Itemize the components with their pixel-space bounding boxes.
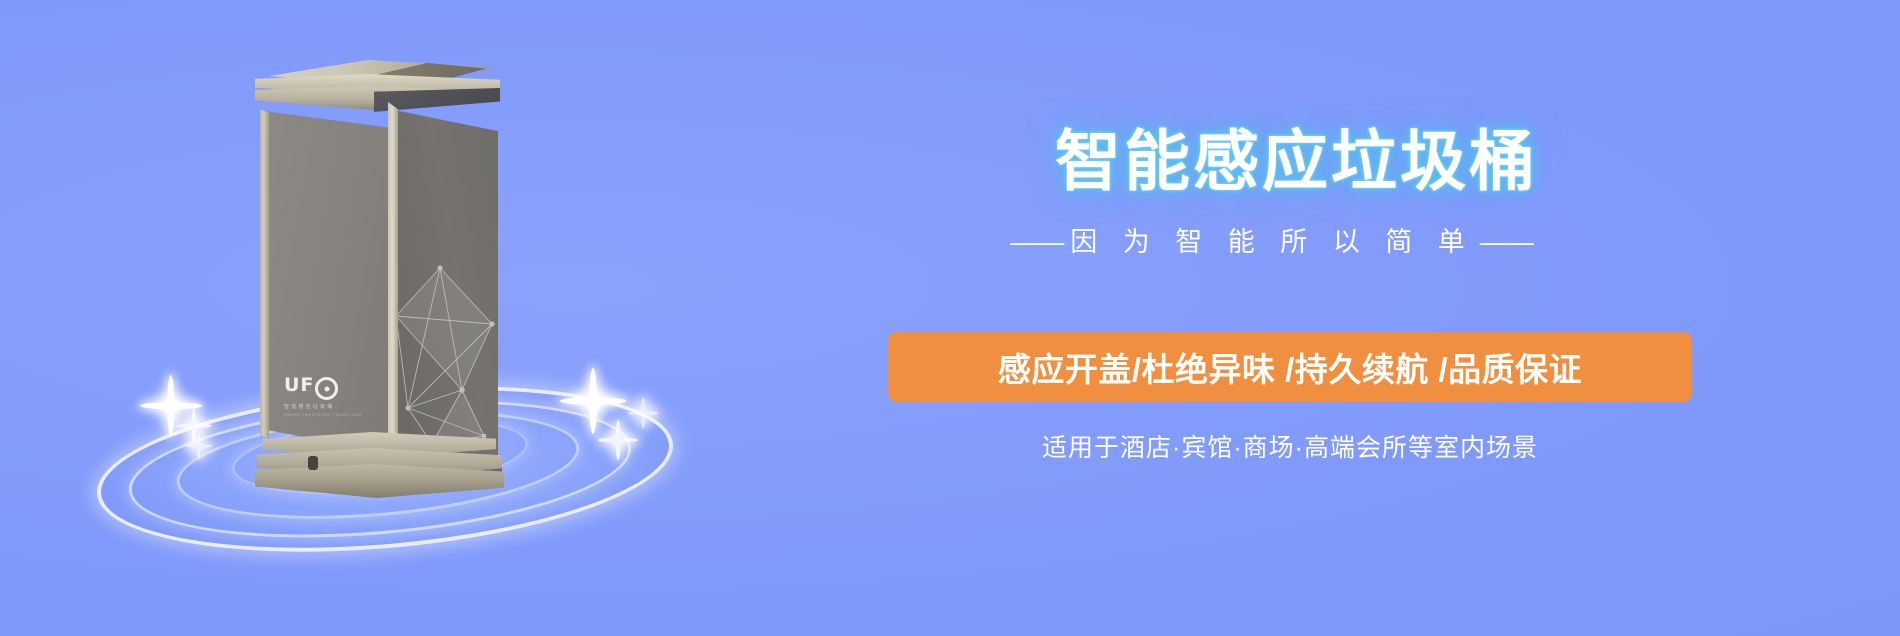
- logo-subtext-cn: 智能感应垃圾桶: [284, 403, 358, 410]
- headline: 智能感应垃圾桶: [1055, 128, 1538, 194]
- bin-lid: [246, 58, 504, 114]
- feature-badge-text: 感应开盖/杜绝异味 /持久续航 /品质保证: [998, 343, 1582, 391]
- bin-corner-trim-left: [260, 102, 269, 460]
- sensor-port-icon: [308, 456, 318, 470]
- bin-corner-trim-center: [388, 102, 398, 460]
- usage-scenario-line: 适用于酒店·宾馆·商场·高端会所等室内场景: [890, 428, 1690, 464]
- polygon-network-graphic: [394, 258, 498, 448]
- subheadline-dash-left: ——: [1004, 227, 1070, 257]
- logo-subtext-en: SMART INDUCTION TRASH CAN: [284, 413, 358, 417]
- logo-circle-icon: [315, 377, 338, 400]
- logo-wordmark: UF: [284, 376, 314, 395]
- ufo-brand-logo: UF 智能感应垃圾桶 SMART INDUCTION TRASH CAN: [284, 376, 358, 422]
- bin-side-panel: [394, 110, 498, 462]
- product-banner: UF 智能感应垃圾桶 SMART INDUCTION TRASH CAN 智能感…: [0, 0, 1900, 636]
- trash-bin-product-image: UF 智能感应垃圾桶 SMART INDUCTION TRASH CAN: [246, 58, 504, 458]
- marketing-copy-block: 智能感应垃圾桶 ——因 为 智 能 所 以 简 单—— 感应开盖/杜绝异味 /持…: [880, 0, 1900, 636]
- feature-badge: 感应开盖/杜绝异味 /持久续航 /品质保证: [888, 332, 1692, 402]
- subheadline: ——因 为 智 能 所 以 简 单——: [902, 220, 1642, 259]
- subheadline-text: 因 为 智 能 所 以 简 单: [1070, 227, 1474, 257]
- product-scene: UF 智能感应垃圾桶 SMART INDUCTION TRASH CAN: [0, 0, 760, 636]
- subheadline-dash-right: ——: [1474, 227, 1540, 257]
- bin-base-pedestal: [250, 432, 502, 516]
